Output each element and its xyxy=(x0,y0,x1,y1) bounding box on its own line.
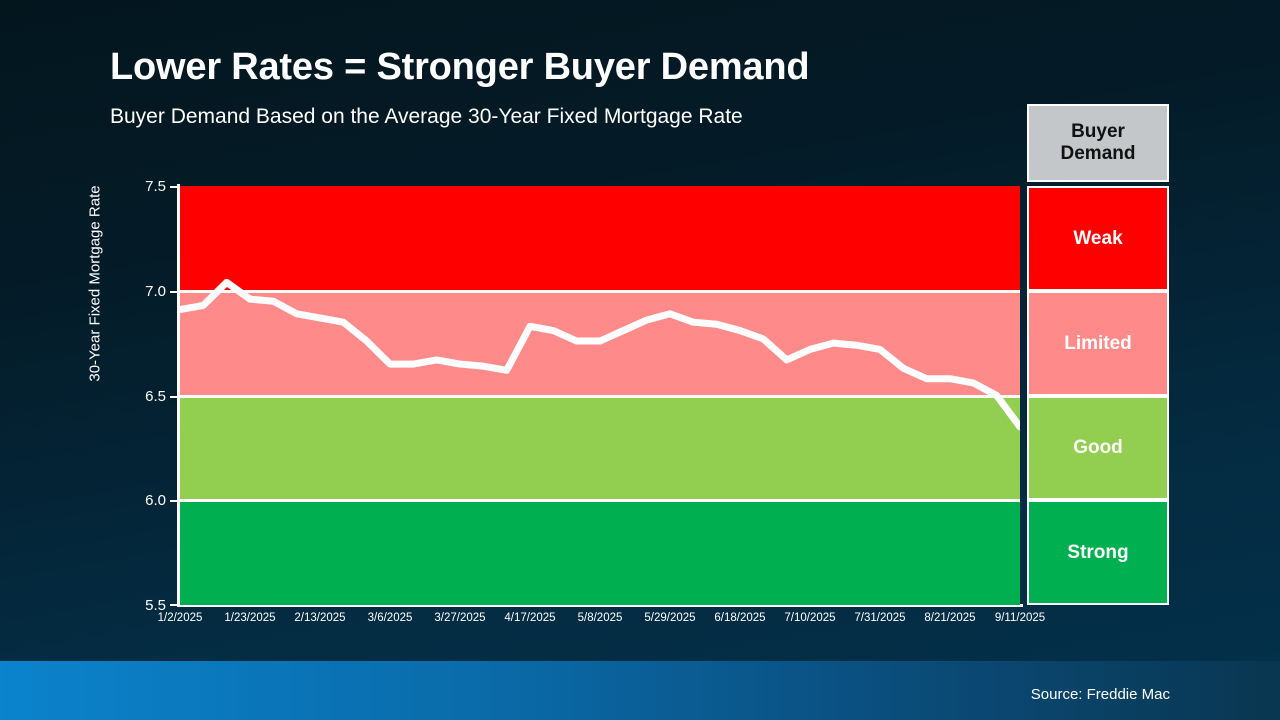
y-tick-label: 6.0 xyxy=(145,492,166,509)
legend-item-weak: Weak xyxy=(1027,186,1169,291)
legend-item-limited: Limited xyxy=(1027,291,1169,396)
slide-canvas: Lower Rates = Stronger Buyer Demand Buye… xyxy=(0,0,1280,720)
x-tick-label: 9/11/2025 xyxy=(995,612,1045,624)
rate-line-chart xyxy=(180,186,1020,605)
y-tick-label: 6.5 xyxy=(145,388,166,405)
x-tick-label: 6/18/2025 xyxy=(714,612,765,624)
x-tick-label: 7/10/2025 xyxy=(784,612,835,624)
x-tick-label: 2/13/2025 xyxy=(294,612,345,624)
y-axis-title: 30-Year Fixed Mortgage Rate xyxy=(87,154,104,414)
x-tick-label: 3/6/2025 xyxy=(368,612,413,624)
x-axis-labels: 1/2/20251/23/20252/13/20253/6/20253/27/2… xyxy=(180,612,1020,632)
rate-line-path xyxy=(180,282,1020,427)
x-tick-label: 3/27/2025 xyxy=(434,612,485,624)
x-tick-label: 1/2/2025 xyxy=(158,612,203,624)
page-subtitle: Buyer Demand Based on the Average 30-Yea… xyxy=(110,105,743,129)
x-tick-label: 4/17/2025 xyxy=(504,612,555,624)
y-tick-label: 7.5 xyxy=(145,178,166,195)
source-attribution: Source: Freddie Mac xyxy=(1031,686,1170,703)
legend-header: Buyer Demand xyxy=(1027,104,1169,182)
y-tick-label: 7.0 xyxy=(145,283,166,300)
legend-item-good: Good xyxy=(1027,396,1169,500)
x-tick-label: 8/21/2025 xyxy=(924,612,975,624)
page-title: Lower Rates = Stronger Buyer Demand xyxy=(110,46,809,89)
legend-panel: Buyer Demand Weak Limited Good Strong xyxy=(1027,104,1169,605)
chart-plot-area xyxy=(180,186,1020,605)
x-tick-label: 1/23/2025 xyxy=(224,612,275,624)
x-tick-label: 5/29/2025 xyxy=(644,612,695,624)
legend-header-line2: Demand xyxy=(1061,143,1136,164)
legend-item-strong: Strong xyxy=(1027,500,1169,605)
x-tick-label: 7/31/2025 xyxy=(854,612,905,624)
x-tick-label: 5/8/2025 xyxy=(578,612,623,624)
legend-header-line1: Buyer xyxy=(1071,121,1125,142)
